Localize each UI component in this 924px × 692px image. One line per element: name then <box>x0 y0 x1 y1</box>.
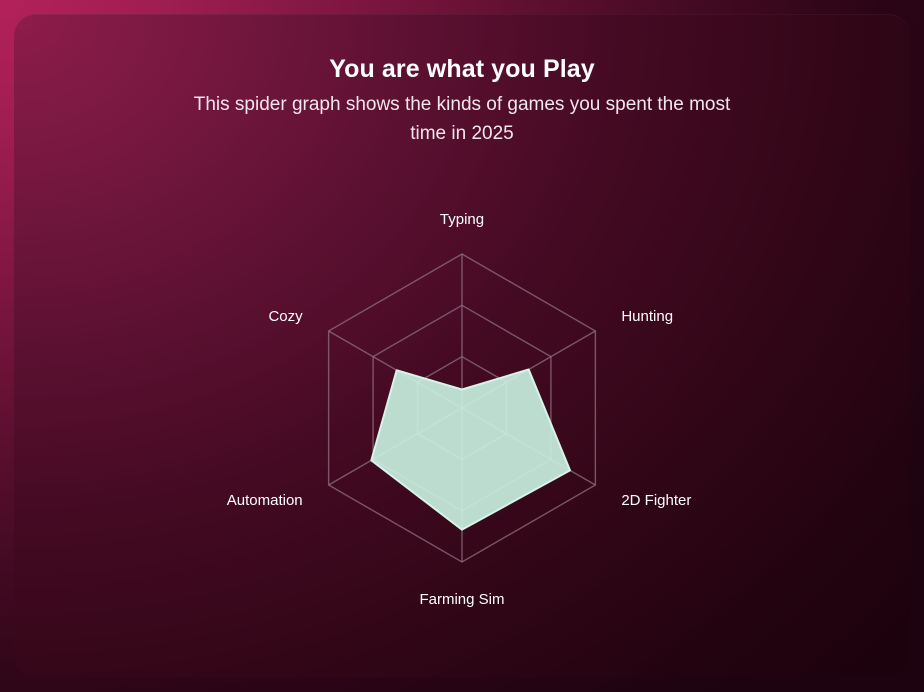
radar-label-farming-sim: Farming Sim <box>419 591 504 608</box>
radar-label-typing: Typing <box>440 211 484 228</box>
radar-series-polygon-0 <box>371 370 570 530</box>
chart-card-inner: You are what you Play This spider graph … <box>14 14 910 678</box>
radar-chart-svg: TypingHunting2D FighterFarming SimAutoma… <box>14 14 910 678</box>
radar-series-group <box>371 370 570 530</box>
radar-label-hunting: Hunting <box>621 308 673 325</box>
radar-label-automation: Automation <box>227 492 303 509</box>
radar-label-cozy: Cozy <box>268 308 303 325</box>
radar-label-2d-fighter: 2D Fighter <box>621 492 691 509</box>
radar-chart: TypingHunting2D FighterFarming SimAutoma… <box>14 14 910 678</box>
chart-card: You are what you Play This spider graph … <box>14 14 910 678</box>
page-root: You are what you Play This spider graph … <box>0 0 924 692</box>
